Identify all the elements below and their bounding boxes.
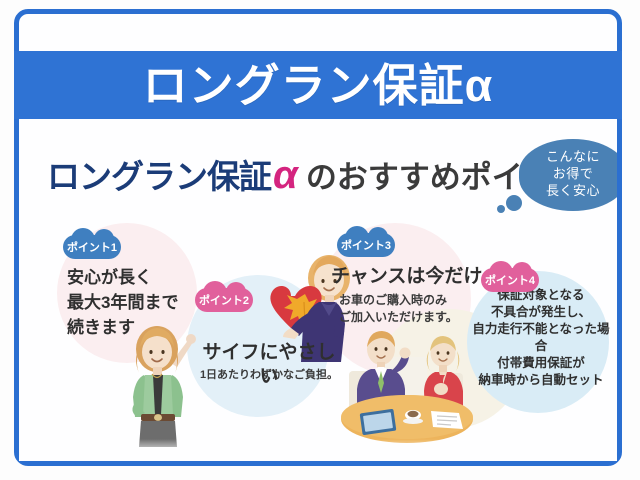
- speech-bubble: こんなに お得で 長く安心: [519, 139, 617, 211]
- point-4-line-3: 自力走行不能となった場合: [471, 321, 611, 355]
- point-4-line-4: 付帯費用保証が: [471, 355, 611, 372]
- headline: ロングラン保証αのおすすめポイント: [47, 155, 585, 195]
- content-area: ロングラン保証αのおすすめポイント こんなに お得で 長く安心: [19, 119, 617, 461]
- point-1-badge: ポイント1: [63, 235, 121, 259]
- speech-bubble-line-1: こんなに: [519, 148, 617, 165]
- speech-bubble-line-2: お得で: [519, 165, 617, 182]
- speech-bubble-line-3: 長く安心: [519, 182, 617, 199]
- couple-at-table-illustration: [337, 327, 477, 451]
- advertisement-page: ロングラン保証α ロングラン保証αのおすすめポイント こんなに お得で 長く安心: [0, 0, 640, 480]
- banner-title-text: ロングラン保証α: [14, 51, 622, 119]
- point-1-line-3: 続きます: [67, 315, 217, 340]
- point-4-badge-label: ポイント4: [485, 272, 535, 288]
- point-4-line-2: 不具合が発生し、: [471, 304, 611, 321]
- title-banner: ロングラン保証α: [14, 51, 622, 119]
- point-2-badge: ポイント2: [195, 288, 253, 312]
- point-2-badge-label: ポイント2: [199, 292, 249, 308]
- point-4-badge: ポイント4: [481, 268, 539, 292]
- headline-product-name: ロングラン保証: [47, 158, 271, 195]
- point-1-badge-label: ポイント1: [67, 239, 117, 255]
- headline-alpha-symbol: α: [271, 153, 300, 197]
- point-3-badge: ポイント3: [337, 233, 395, 257]
- speech-bubble-tail-small: [497, 205, 505, 213]
- bottom-fade: [19, 439, 617, 461]
- point-4-line-5: 納車時から自動セット: [471, 372, 611, 389]
- point-2-subtext: 1日あたりわずかなご負担。: [195, 368, 343, 382]
- point-1-line-1: 安心が長く: [67, 265, 217, 290]
- point-3-title: チャンスは今だけ: [331, 265, 501, 289]
- point-3-badge-label: ポイント3: [341, 237, 391, 253]
- point-4-text: 保証対象となる 不具合が発生し、 自力走行不能となった場合 付帯費用保証が 納車…: [471, 287, 611, 389]
